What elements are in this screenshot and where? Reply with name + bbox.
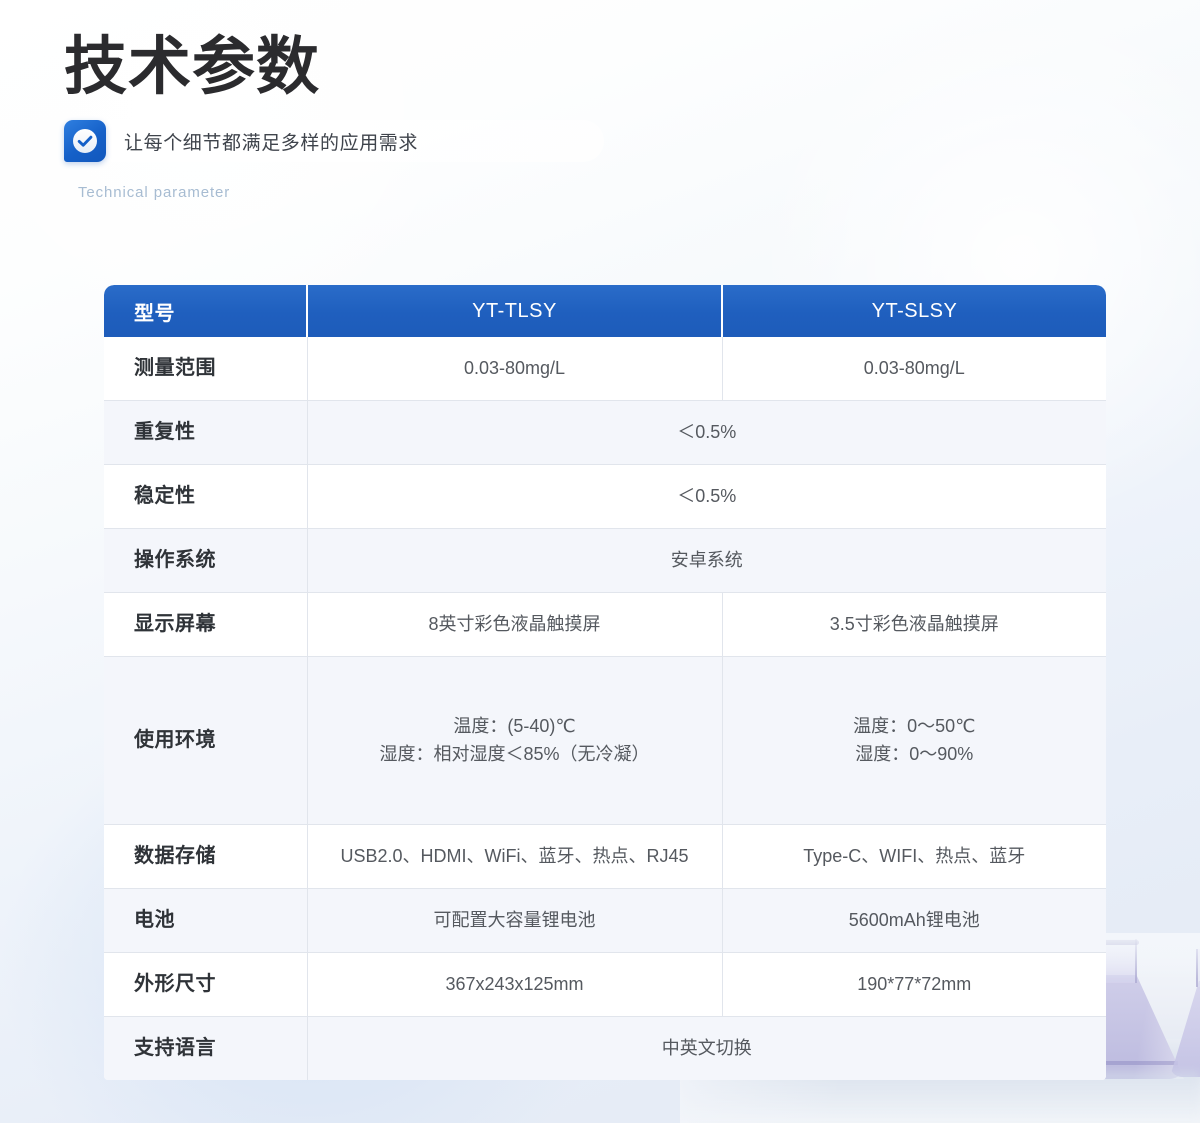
row-value-yt-tlsy: 可配置大容量锂电池 [307,889,722,953]
column-header-yt-tlsy: YT-TLSY [307,285,722,337]
row-value-yt-tlsy: 367x243x125mm [307,953,722,1017]
row-value-merged: 安卓系统 [307,529,1106,593]
row-value-yt-slsy: 5600mAh锂电池 [722,889,1106,953]
table-row: 测量范围0.03-80mg/L0.03-80mg/L [104,337,1106,401]
row-value-merged: ＜0.5% [307,401,1106,465]
row-value-yt-tlsy: 0.03-80mg/L [307,337,722,401]
technical-parameter-table: 型号 YT-TLSY YT-SLSY 测量范围0.03-80mg/L0.03-8… [104,285,1106,1080]
table-row: 操作系统安卓系统 [104,529,1106,593]
row-value-merged: ＜0.5% [307,465,1106,529]
row-value-yt-slsy: 190*77*72mm [722,953,1106,1017]
table-header-row: 型号 YT-TLSY YT-SLSY [104,285,1106,337]
table-row: 稳定性＜0.5% [104,465,1106,529]
row-label: 测量范围 [104,337,307,401]
technical-parameter-page: 技术参数 让每个细节都满足多样的应用需求 Technical paramete [0,0,1200,1123]
page-header: 技术参数 让每个细节都满足多样的应用需求 Technical paramete [64,34,524,201]
table-row: 重复性＜0.5% [104,401,1106,465]
table-body: 测量范围0.03-80mg/L0.03-80mg/L重复性＜0.5%稳定性＜0.… [104,337,1106,1080]
table-head: 型号 YT-TLSY YT-SLSY [104,285,1106,337]
row-value-yt-tlsy: USB2.0、HDMI、WiFi、蓝牙、热点、RJ45 [307,825,722,889]
row-label: 数据存储 [104,825,307,889]
page-title: 技术参数 [64,34,524,98]
table-row: 电池可配置大容量锂电池5600mAh锂电池 [104,889,1106,953]
row-value-yt-slsy: 3.5寸彩色液晶触摸屏 [722,593,1106,657]
row-label: 操作系统 [104,529,307,593]
check-circle-icon [64,120,106,162]
column-header-model-label: 型号 [104,285,307,337]
spec-table-wrapper: 型号 YT-TLSY YT-SLSY 测量范围0.03-80mg/L0.03-8… [104,285,1106,1080]
row-label: 重复性 [104,401,307,465]
row-value-merged: 中英文切换 [307,1017,1106,1081]
row-label: 稳定性 [104,465,307,529]
row-value-yt-slsy: 温度：0～50℃ 湿度：0～90% [722,657,1106,825]
subtitle-row: 让每个细节都满足多样的应用需求 [64,120,524,162]
table-row: 外形尺寸367x243x125mm190*77*72mm [104,953,1106,1017]
row-value-yt-tlsy: 温度：(5-40)℃ 湿度：相对湿度＜85%（无冷凝） [307,657,722,825]
row-label: 使用环境 [104,657,307,825]
row-label: 显示屏幕 [104,593,307,657]
table-row: 显示屏幕8英寸彩色液晶触摸屏3.5寸彩色液晶触摸屏 [104,593,1106,657]
row-value-yt-slsy: Type-C、WIFI、热点、蓝牙 [722,825,1106,889]
row-value-yt-slsy: 0.03-80mg/L [722,337,1106,401]
row-label: 外形尺寸 [104,953,307,1017]
subtitle-text: 让每个细节都满足多样的应用需求 [124,128,418,155]
column-header-yt-slsy: YT-SLSY [722,285,1106,337]
english-subtitle: Technical parameter [78,184,524,201]
row-label: 支持语言 [104,1017,307,1081]
table-row: 数据存储USB2.0、HDMI、WiFi、蓝牙、热点、RJ45Type-C、WI… [104,825,1106,889]
row-label: 电池 [104,889,307,953]
table-row: 使用环境温度：(5-40)℃ 湿度：相对湿度＜85%（无冷凝）温度：0～50℃ … [104,657,1106,825]
table-row: 支持语言中英文切换 [104,1017,1106,1081]
row-value-yt-tlsy: 8英寸彩色液晶触摸屏 [307,593,722,657]
